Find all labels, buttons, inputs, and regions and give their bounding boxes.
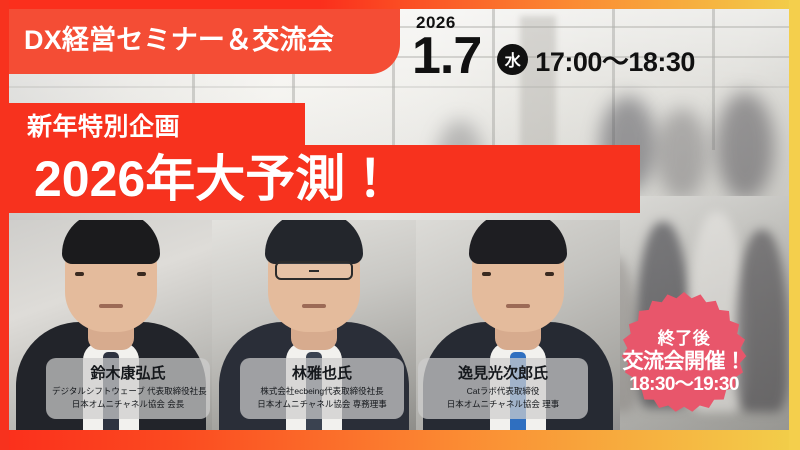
speaker-role-primary: Catラボ代表取締役 [424, 385, 582, 398]
speaker-role-primary: デジタルシフトウェーブ 代表取締役社長 [52, 385, 204, 398]
speaker-role-secondary: 日本オムニチャネル協会 専務理事 [246, 398, 398, 411]
speaker-nameplate-1: 鈴木康弘氏 デジタルシフトウェーブ 代表取締役社長 日本オムニチャネル協会 会長 [46, 358, 210, 419]
event-time: 17:00〜18:30 [535, 49, 695, 76]
event-date-block: 2026 1.7 水 17:00〜18:30 [412, 14, 695, 81]
badge-line-2: 交流会開催！ [623, 350, 746, 374]
event-day: 1.7 [412, 33, 481, 81]
main-headline-band: 2026年大予測！ [0, 145, 640, 213]
speaker-role-secondary: 日本オムニチャネル協会 会長 [52, 398, 204, 411]
bottom-gradient-bar [0, 430, 800, 450]
speaker-name: 林雅也氏 [246, 365, 398, 382]
sub-headline-strip: 新年特別企画 [0, 103, 305, 147]
page-title: DX経営セミナー＆交流会 [24, 18, 334, 57]
speaker-nameplate-2: 林雅也氏 株式会社ecbeing代表取締役社長 日本オムニチャネル協会 専務理事 [240, 358, 404, 419]
top-gradient-rule [0, 0, 800, 9]
speaker-name: 逸見光次郎氏 [424, 365, 582, 382]
badge-line-1: 終了後 [658, 329, 711, 348]
eyeglasses-icon [275, 261, 353, 280]
speaker-role-secondary: 日本オムニチャネル協会 理事 [424, 398, 582, 411]
badge-line-3: 18:30〜19:30 [629, 374, 739, 395]
title-plate: DX経営セミナー＆交流会 [0, 0, 400, 74]
left-edge-accent [0, 0, 9, 450]
sub-headline: 新年特別企画 [27, 107, 180, 143]
day-of-week-badge: 水 [497, 44, 528, 75]
main-headline: 2026年大予測！ [34, 154, 395, 204]
speaker-name: 鈴木康弘氏 [52, 365, 204, 382]
speaker-nameplate-3: 逸見光次郎氏 Catラボ代表取締役 日本オムニチャネル協会 理事 [418, 358, 588, 419]
networking-badge: 終了後 交流会開催！ 18:30〜19:30 [608, 286, 760, 438]
right-edge-accent [789, 0, 800, 450]
seminar-banner: DX経営セミナー＆交流会 2026 1.7 水 17:00〜18:30 新年特別… [0, 0, 800, 450]
speaker-role-primary: 株式会社ecbeing代表取締役社長 [246, 385, 398, 398]
